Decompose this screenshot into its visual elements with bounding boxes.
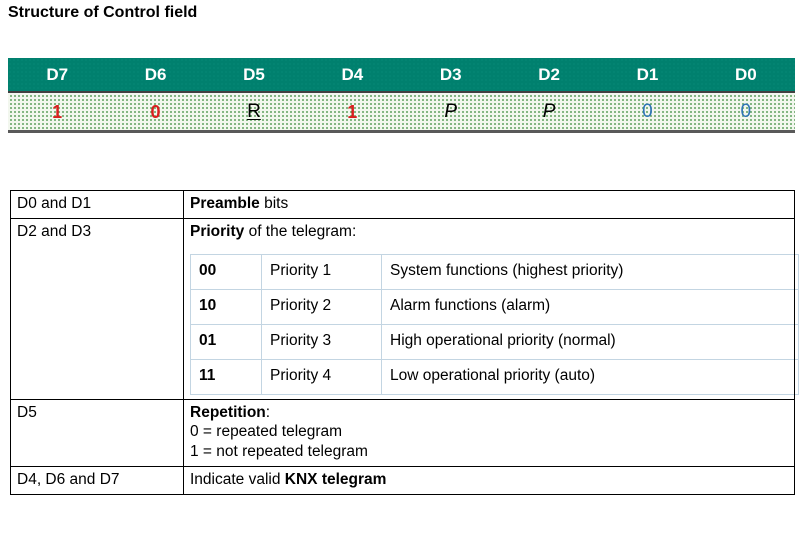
table-row: D0 and D1 Preamble bits [11, 191, 795, 219]
bit-label-d6: D6 [106, 58, 204, 91]
knx-prefix-text: Indicate valid [190, 471, 285, 488]
control-field-description-table: D0 and D1 Preamble bits D2 and D3 Priori… [10, 190, 795, 495]
priority-desc-3: High operational priority (normal) [382, 324, 799, 359]
repetition-colon-text: : [266, 404, 270, 421]
bit-value-d4: 1 [303, 93, 401, 130]
table-row: D5 Repetition: 0 = repeated telegram 1 =… [11, 399, 795, 466]
priority-code-4: 11 [191, 359, 262, 394]
row-bits-knx: D4, D6 and D7 [11, 467, 184, 495]
bit-label-d1: D1 [598, 58, 696, 91]
bit-label-d3: D3 [402, 58, 500, 91]
priority-levels-table: 00 Priority 1 System functions (highest … [190, 254, 799, 395]
repetition-bold-text: Repetition [190, 404, 266, 421]
row-bits-repetition: D5 [11, 399, 184, 466]
priority-row: 01 Priority 3 High operational priority … [191, 324, 799, 359]
bit-value-d2-text: P [543, 102, 556, 121]
row-desc-knx: Indicate valid KNX telegram [184, 467, 795, 495]
bit-value-d5: R [205, 93, 303, 130]
repetition-line-1: 1 = not repeated telegram [190, 442, 788, 462]
table-row: D2 and D3 Priority of the telegram: 00 P… [11, 218, 795, 399]
preamble-rest-text: bits [260, 195, 288, 212]
priority-code-1: 00 [191, 254, 262, 289]
priority-code-3: 01 [191, 324, 262, 359]
priority-code-2: 10 [191, 289, 262, 324]
priority-rest-text: of the telegram: [244, 223, 356, 240]
row-desc-repetition: Repetition: 0 = repeated telegram 1 = no… [184, 399, 795, 466]
bit-label-d4: D4 [303, 58, 401, 91]
row-desc-preamble: Preamble bits [184, 191, 795, 219]
bit-value-d3: P [402, 93, 500, 130]
priority-desc-4: Low operational priority (auto) [382, 359, 799, 394]
repetition-heading: Repetition: [190, 403, 788, 423]
priority-row: 00 Priority 1 System functions (highest … [191, 254, 799, 289]
bit-value-row: 1 0 R 1 P P 0 0 [8, 93, 795, 133]
bit-value-d4-text: 1 [347, 103, 357, 121]
control-field-bit-diagram: D7 D6 D5 D4 D3 D2 D1 D0 1 0 R 1 P P 0 0 [8, 58, 795, 133]
bit-value-d3-text: P [444, 102, 457, 121]
row-bits-preamble: D0 and D1 [11, 191, 184, 219]
priority-desc-1: System functions (highest priority) [382, 254, 799, 289]
priority-name-2: Priority 2 [262, 289, 382, 324]
bit-value-d5-text: R [247, 102, 261, 121]
row-bits-priority: D2 and D3 [11, 218, 184, 399]
bit-label-d7: D7 [8, 58, 106, 91]
priority-bold-text: Priority [190, 223, 244, 240]
row-desc-priority: Priority of the telegram: 00 Priority 1 … [184, 218, 795, 399]
bit-value-d7-text: 1 [52, 103, 62, 121]
bit-label-header-bar: D7 D6 D5 D4 D3 D2 D1 D0 [8, 58, 795, 93]
bit-label-d0: D0 [697, 58, 795, 91]
preamble-bold-text: Preamble [190, 195, 260, 212]
priority-desc-2: Alarm functions (alarm) [382, 289, 799, 324]
bit-value-d1: 0 [598, 93, 696, 130]
priority-row: 11 Priority 4 Low operational priority (… [191, 359, 799, 394]
bit-value-d2: P [500, 93, 598, 130]
priority-name-3: Priority 3 [262, 324, 382, 359]
bit-value-d6: 0 [106, 93, 204, 130]
bit-label-d5: D5 [205, 58, 303, 91]
priority-name-4: Priority 4 [262, 359, 382, 394]
bit-label-d2: D2 [500, 58, 598, 91]
bit-value-d6-text: 0 [151, 103, 161, 121]
table-row: D4, D6 and D7 Indicate valid KNX telegra… [11, 467, 795, 495]
repetition-line-0: 0 = repeated telegram [190, 422, 788, 442]
priority-name-1: Priority 1 [262, 254, 382, 289]
bit-value-d0-text: 0 [741, 102, 752, 121]
knx-bold-text: KNX telegram [285, 471, 387, 488]
bit-value-d1-text: 0 [642, 102, 653, 121]
priority-row: 10 Priority 2 Alarm functions (alarm) [191, 289, 799, 324]
page-title: Structure of Control field [8, 4, 197, 22]
bit-value-d0: 0 [697, 93, 795, 130]
bit-value-d7: 1 [8, 93, 106, 130]
